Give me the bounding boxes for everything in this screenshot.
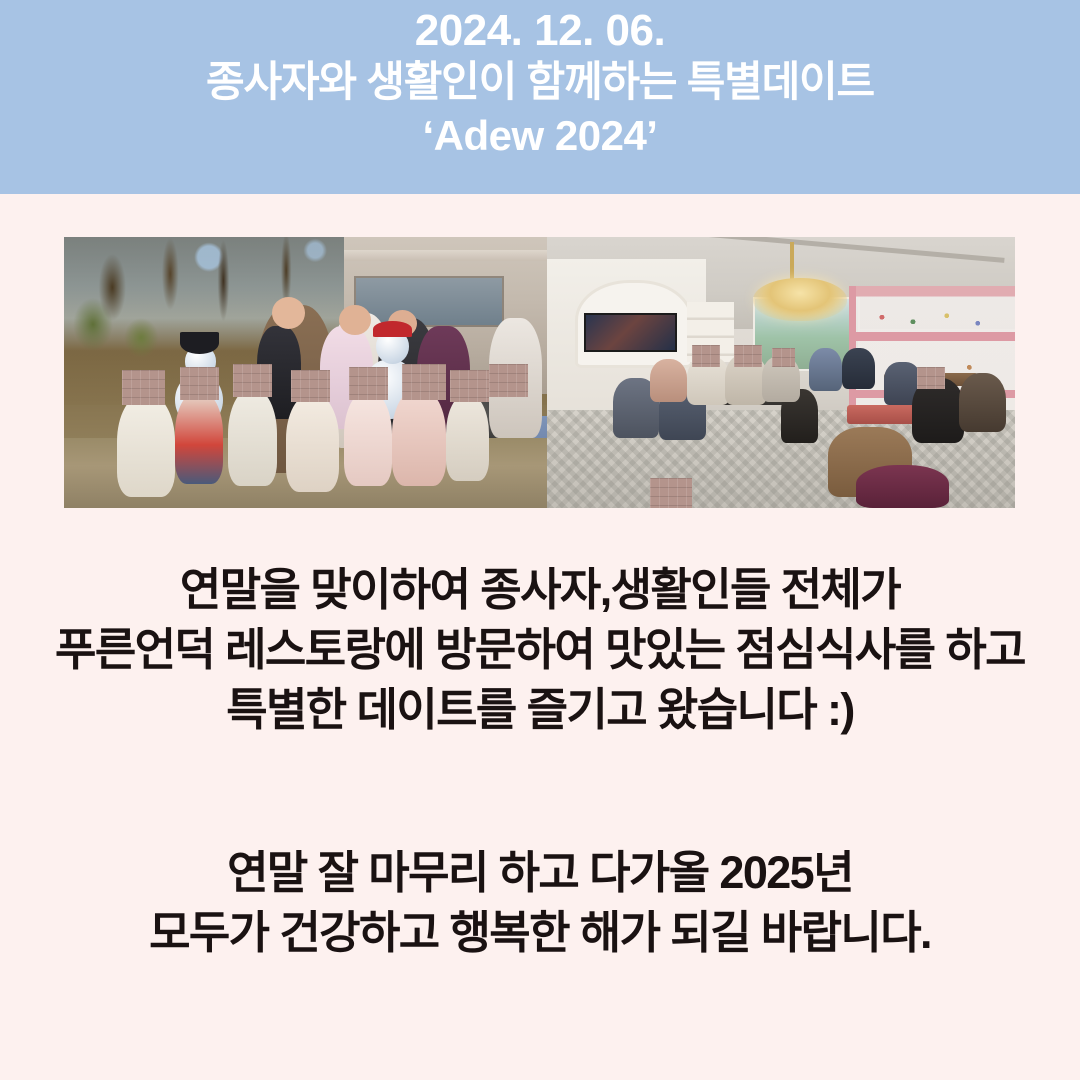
diner-8: [959, 373, 1006, 433]
mosaic-face-r4: [917, 367, 945, 389]
header-banner: 2024. 12. 06. 종사자와 생활인이 함께하는 특별데이트 ‘Adew…: [0, 0, 1080, 194]
snowman-hat-2: [180, 332, 219, 354]
header-subtitle: ‘Adew 2024’: [423, 109, 658, 164]
mosaic-face-r3: [772, 348, 795, 367]
mosaic-face-4: [291, 370, 330, 403]
mosaic-face-r2: [734, 345, 762, 367]
mosaic-face-r1: [692, 345, 720, 367]
mosaic-face-3: [233, 364, 272, 397]
mosaic-face-1: [122, 370, 165, 405]
outdoor-adult-head-2: [339, 305, 370, 335]
photo-restaurant-interior: [547, 237, 1015, 508]
paragraph-1: 연말을 맞이하여 종사자,생활인들 전체가 푸른언덕 레스토랑에 방문하여 맛있…: [0, 560, 1080, 740]
outdoor-child-2: [175, 391, 223, 483]
diner-9: [856, 465, 950, 508]
paragraph-2: 연말 잘 마무리 하고 다가올 2025년 모두가 건강하고 행복한 해가 되길…: [0, 843, 1080, 963]
poster-card: 2024. 12. 06. 종사자와 생활인이 함께하는 특별데이트 ‘Adew…: [0, 0, 1080, 1080]
mosaic-face-5: [349, 367, 388, 400]
mosaic-face-r5: [650, 478, 692, 508]
header-title: 종사자와 생활인이 함께하는 특별데이트: [206, 55, 874, 109]
outdoor-child-4: [286, 394, 339, 492]
diner-5: [809, 348, 842, 391]
paragraph-2-line-1: 연말 잘 마무리 하고 다가올 2025년: [0, 843, 1080, 903]
outdoor-child-5: [344, 391, 392, 486]
mosaic-face-2: [180, 367, 219, 400]
paragraph-1-line-3: 특별한 데이트를 즐기고 왔습니다 :): [0, 680, 1080, 740]
photo-outdoor-group: [64, 237, 547, 508]
mosaic-face-8: [489, 364, 528, 397]
chandelier-stem: [790, 242, 794, 280]
chandelier-icon: [753, 278, 847, 321]
outdoor-child-1: [117, 394, 175, 497]
outdoor-child-3: [228, 389, 276, 487]
snowman-hat-1: [373, 321, 412, 337]
paragraph-1-line-2: 푸른언덕 레스토랑에 방문하여 맛있는 점심식사를 하고: [0, 620, 1080, 680]
mosaic-face-7: [450, 370, 489, 403]
paragraph-1-line-1: 연말을 맞이하여 종사자,생활인들 전체가: [0, 560, 1080, 620]
outdoor-child-7: [446, 394, 489, 481]
wall-tv-screen: [584, 313, 677, 352]
photo-strip: [64, 237, 1015, 508]
diner-6: [842, 348, 875, 389]
outdoor-child-6: [392, 389, 445, 487]
header-date: 2024. 12. 06.: [415, 6, 665, 55]
diner-4: [650, 359, 687, 402]
paragraph-2-line-2: 모두가 건강하고 행복한 해가 되길 바랍니다.: [0, 903, 1080, 963]
mosaic-face-6: [402, 364, 445, 399]
